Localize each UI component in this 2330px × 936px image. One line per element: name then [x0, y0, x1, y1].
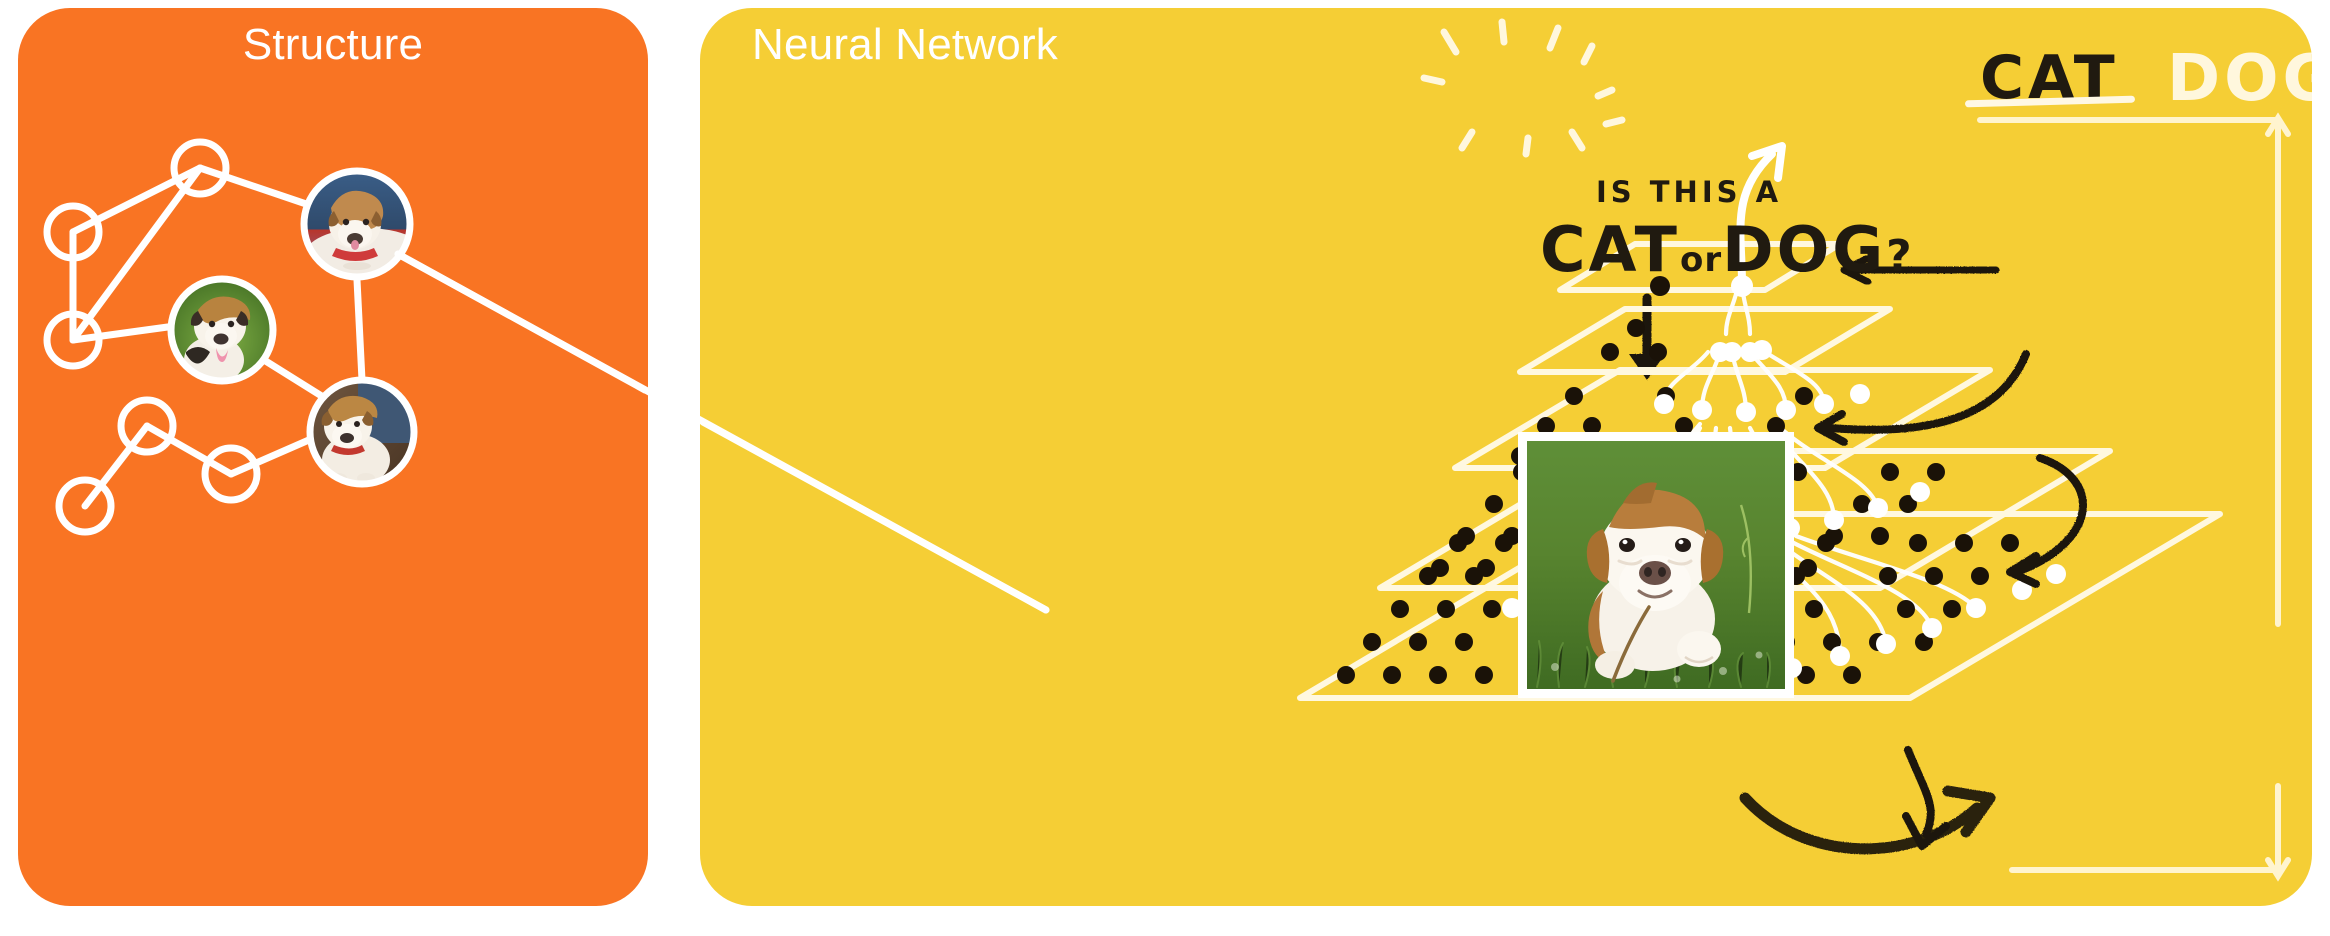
input-photo-frame[interactable]	[1518, 432, 1794, 698]
question-mark: ?	[1886, 231, 1915, 282]
verdict-dog-label: DOG	[2167, 42, 2312, 116]
neural-network-panel: Neural Network	[700, 8, 2312, 906]
edge	[85, 426, 147, 506]
edge	[73, 326, 175, 340]
edge	[357, 280, 362, 380]
layer-plane-hidden-3	[1520, 309, 1890, 372]
deep-network-bracket	[1980, 118, 2288, 876]
infographic-root: Structure	[0, 0, 2330, 936]
input-photo	[1527, 441, 1785, 689]
activated-neurons-arrow-lower-icon	[2010, 458, 2083, 584]
question-cat-word: CAT	[1540, 213, 1680, 286]
graph-photo-node-1[interactable]	[304, 171, 428, 284]
photo-to-network-arrow-icon	[1745, 791, 1990, 849]
neural-network-diagram	[700, 8, 2312, 906]
structure-panel: Structure	[18, 8, 648, 906]
edge	[264, 360, 328, 400]
question-line-2: CATorDOG?	[1540, 214, 1915, 286]
question-line-1: IS THIS A	[1596, 176, 1782, 210]
graph-photo-node-2[interactable]	[171, 279, 273, 384]
input-layer-arrow-icon	[1906, 750, 1946, 846]
edge	[73, 168, 200, 232]
neurons-hidden-layer-3	[1601, 319, 1772, 362]
graph-photo-node-3[interactable]	[310, 380, 414, 486]
structure-node-graph	[18, 8, 648, 906]
question-dog-word: DOG	[1722, 213, 1886, 286]
question-connector: or	[1680, 240, 1722, 280]
bulldog-puppy-illustration	[1527, 441, 1785, 689]
activated-neurons	[1710, 340, 1772, 362]
dog-sparkles	[1424, 22, 1622, 154]
